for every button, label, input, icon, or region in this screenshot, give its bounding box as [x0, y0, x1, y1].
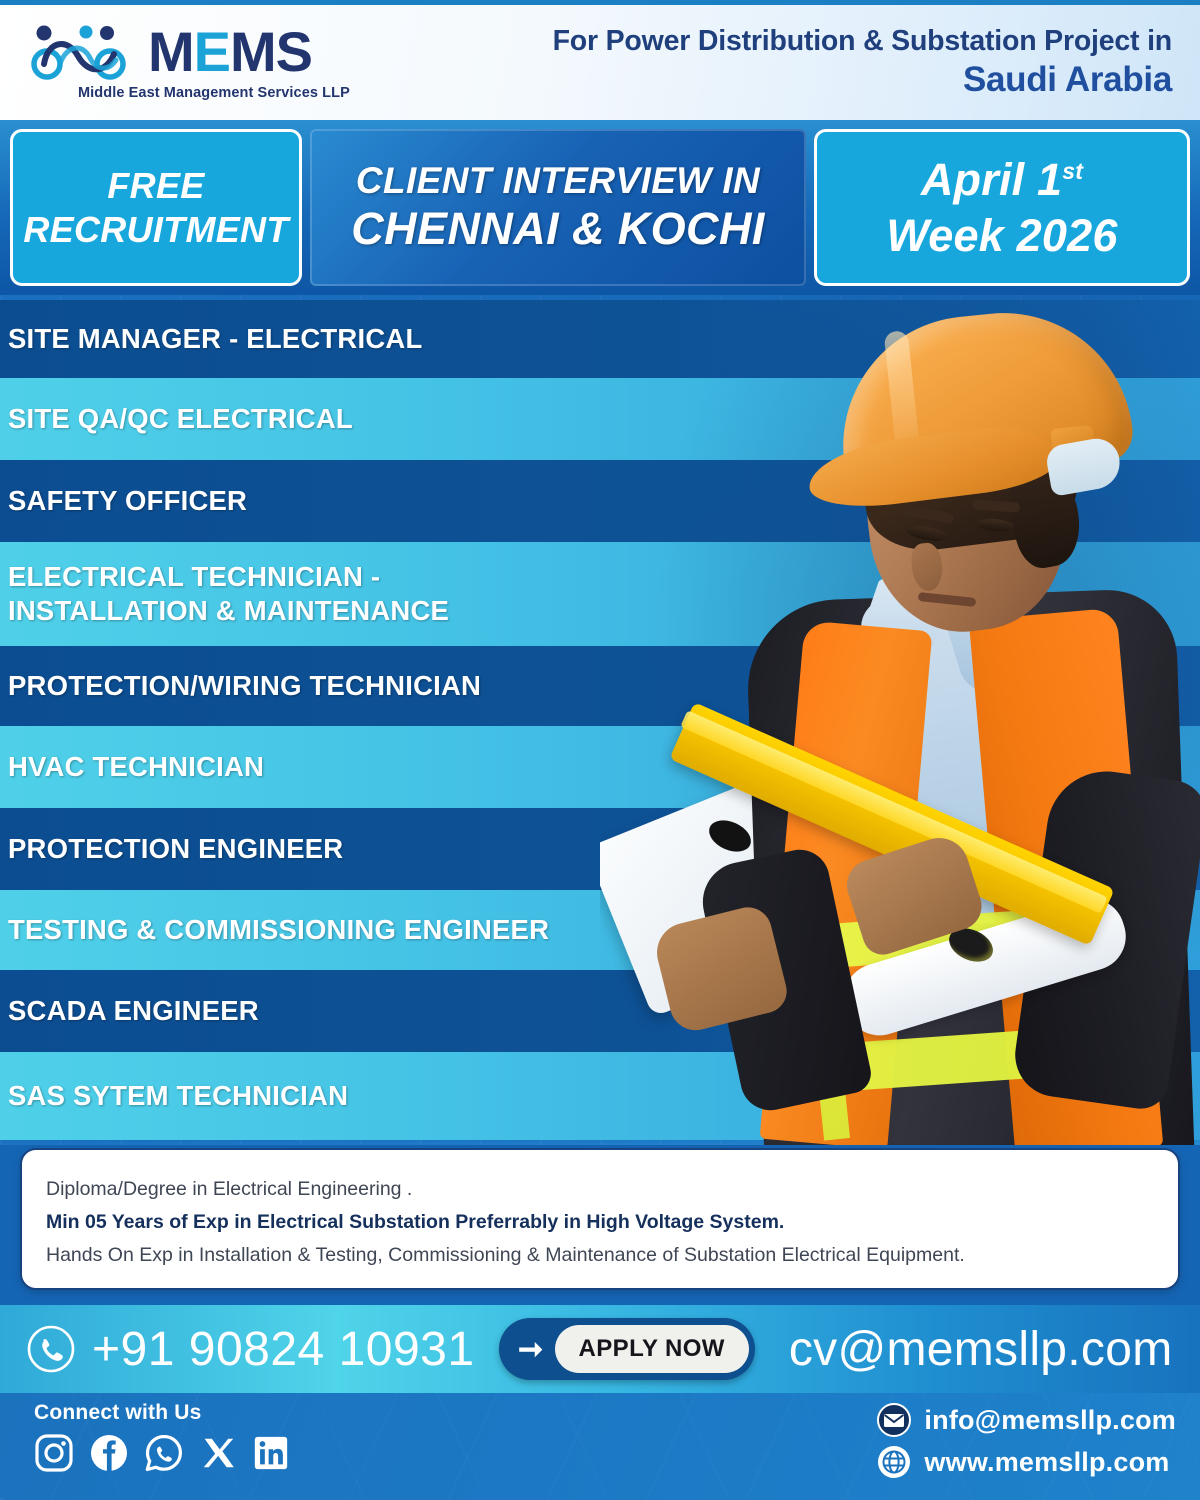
- recruitment-label: RECRUITMENT: [23, 209, 288, 251]
- linkedin-icon[interactable]: [252, 1434, 290, 1472]
- qualification-line-1: Diploma/Degree in Electrical Engineering…: [46, 1178, 1156, 1201]
- whatsapp-icon[interactable]: [144, 1433, 184, 1473]
- free-recruitment-badge: FREE RECRUITMENT: [10, 129, 302, 286]
- job-title: PROTECTION/WIRING TECHNICIAN: [8, 669, 481, 703]
- website-url: www.memsllp.com: [924, 1447, 1169, 1478]
- logo-wordmark: MEMS: [148, 24, 312, 80]
- job-title: HVAC TECHNICIAN: [8, 750, 264, 784]
- date-ordinal-suffix: st: [1062, 158, 1083, 184]
- footer-contact-block: info@memsllp.com www.memsllp.com: [877, 1403, 1176, 1479]
- qualification-line-2: Min 05 Years of Exp in Electrical Substa…: [46, 1211, 1156, 1234]
- x-twitter-icon[interactable]: [199, 1434, 237, 1472]
- arrow-right-icon: ➞: [509, 1327, 553, 1371]
- info-email: info@memsllp.com: [924, 1405, 1176, 1436]
- job-title: SAFETY OFFICER: [8, 484, 247, 518]
- social-icons-row: [34, 1433, 290, 1473]
- interview-cities: CHENNAI & KOCHI: [351, 203, 765, 255]
- phone-icon: [26, 1324, 76, 1374]
- interview-date-badge: April 1st Week 2026: [814, 129, 1190, 286]
- poster-footer: Connect with Us: [0, 1393, 1200, 1500]
- job-title: SCADA ENGINEER: [8, 994, 259, 1028]
- apply-now-label: APPLY NOW: [555, 1325, 749, 1373]
- job-title: SITE QA/QC ELECTRICAL: [8, 402, 353, 436]
- website-row[interactable]: www.memsllp.com: [877, 1445, 1169, 1479]
- contact-strip: +91 90824 10931 ➞ APPLY NOW cv@memsllp.c…: [0, 1305, 1200, 1393]
- client-interview-badge: CLIENT INTERVIEW IN CHENNAI & KOCHI: [310, 129, 806, 286]
- free-label: FREE: [107, 165, 204, 207]
- qualifications-card: Diploma/Degree in Electrical Engineering…: [20, 1148, 1180, 1290]
- mems-infinity-people-icon: [30, 24, 142, 80]
- envelope-icon: [877, 1403, 911, 1437]
- recruitment-poster: MEMS Middle East Management Services LLP…: [0, 0, 1200, 1500]
- header-tagline: For Power Distribution & Substation Proj…: [553, 25, 1178, 99]
- worker-photo: [600, 295, 1200, 1145]
- apply-now-button[interactable]: ➞ APPLY NOW: [499, 1318, 755, 1380]
- qualifications-section: Diploma/Degree in Electrical Engineering…: [0, 1148, 1200, 1298]
- job-title: SAS SYTEM TECHNICIAN: [8, 1079, 348, 1113]
- date-line-2: Week 2026: [886, 210, 1117, 262]
- connect-block: Connect with Us: [34, 1401, 290, 1473]
- job-title: ELECTRICAL TECHNICIAN - INSTALLATION & M…: [8, 560, 449, 628]
- tagline-country: Saudi Arabia: [553, 60, 1172, 100]
- job-title: TESTING & COMMISSIONING ENGINEER: [8, 913, 549, 947]
- phone-number: +91 90824 10931: [92, 1322, 475, 1377]
- phone-contact[interactable]: +91 90824 10931: [26, 1322, 475, 1377]
- interview-line-1: CLIENT INTERVIEW IN: [356, 160, 760, 202]
- logo-subtitle: Middle East Management Services LLP: [78, 85, 350, 101]
- facebook-icon[interactable]: [89, 1433, 129, 1473]
- cv-email[interactable]: cv@memsllp.com: [789, 1322, 1173, 1377]
- instagram-icon[interactable]: [34, 1433, 74, 1473]
- date-line-1: April 1st: [921, 154, 1083, 206]
- job-list-section: SITE MANAGER - ELECTRICALSITE QA/QC ELEC…: [0, 295, 1200, 1145]
- job-title: PROTECTION ENGINEER: [8, 832, 343, 866]
- poster-header: MEMS Middle East Management Services LLP…: [0, 0, 1200, 120]
- banner-strip: FREE RECRUITMENT CLIENT INTERVIEW IN CHE…: [0, 120, 1200, 295]
- tagline-line-1: For Power Distribution & Substation Proj…: [553, 25, 1172, 57]
- connect-label: Connect with Us: [34, 1401, 290, 1425]
- job-title: SITE MANAGER - ELECTRICAL: [8, 322, 422, 356]
- info-email-row[interactable]: info@memsllp.com: [877, 1403, 1176, 1437]
- globe-icon: [877, 1445, 911, 1479]
- qualification-line-3: Hands On Exp in Installation & Testing, …: [46, 1244, 1156, 1267]
- company-logo: MEMS Middle East Management Services LLP: [30, 24, 350, 101]
